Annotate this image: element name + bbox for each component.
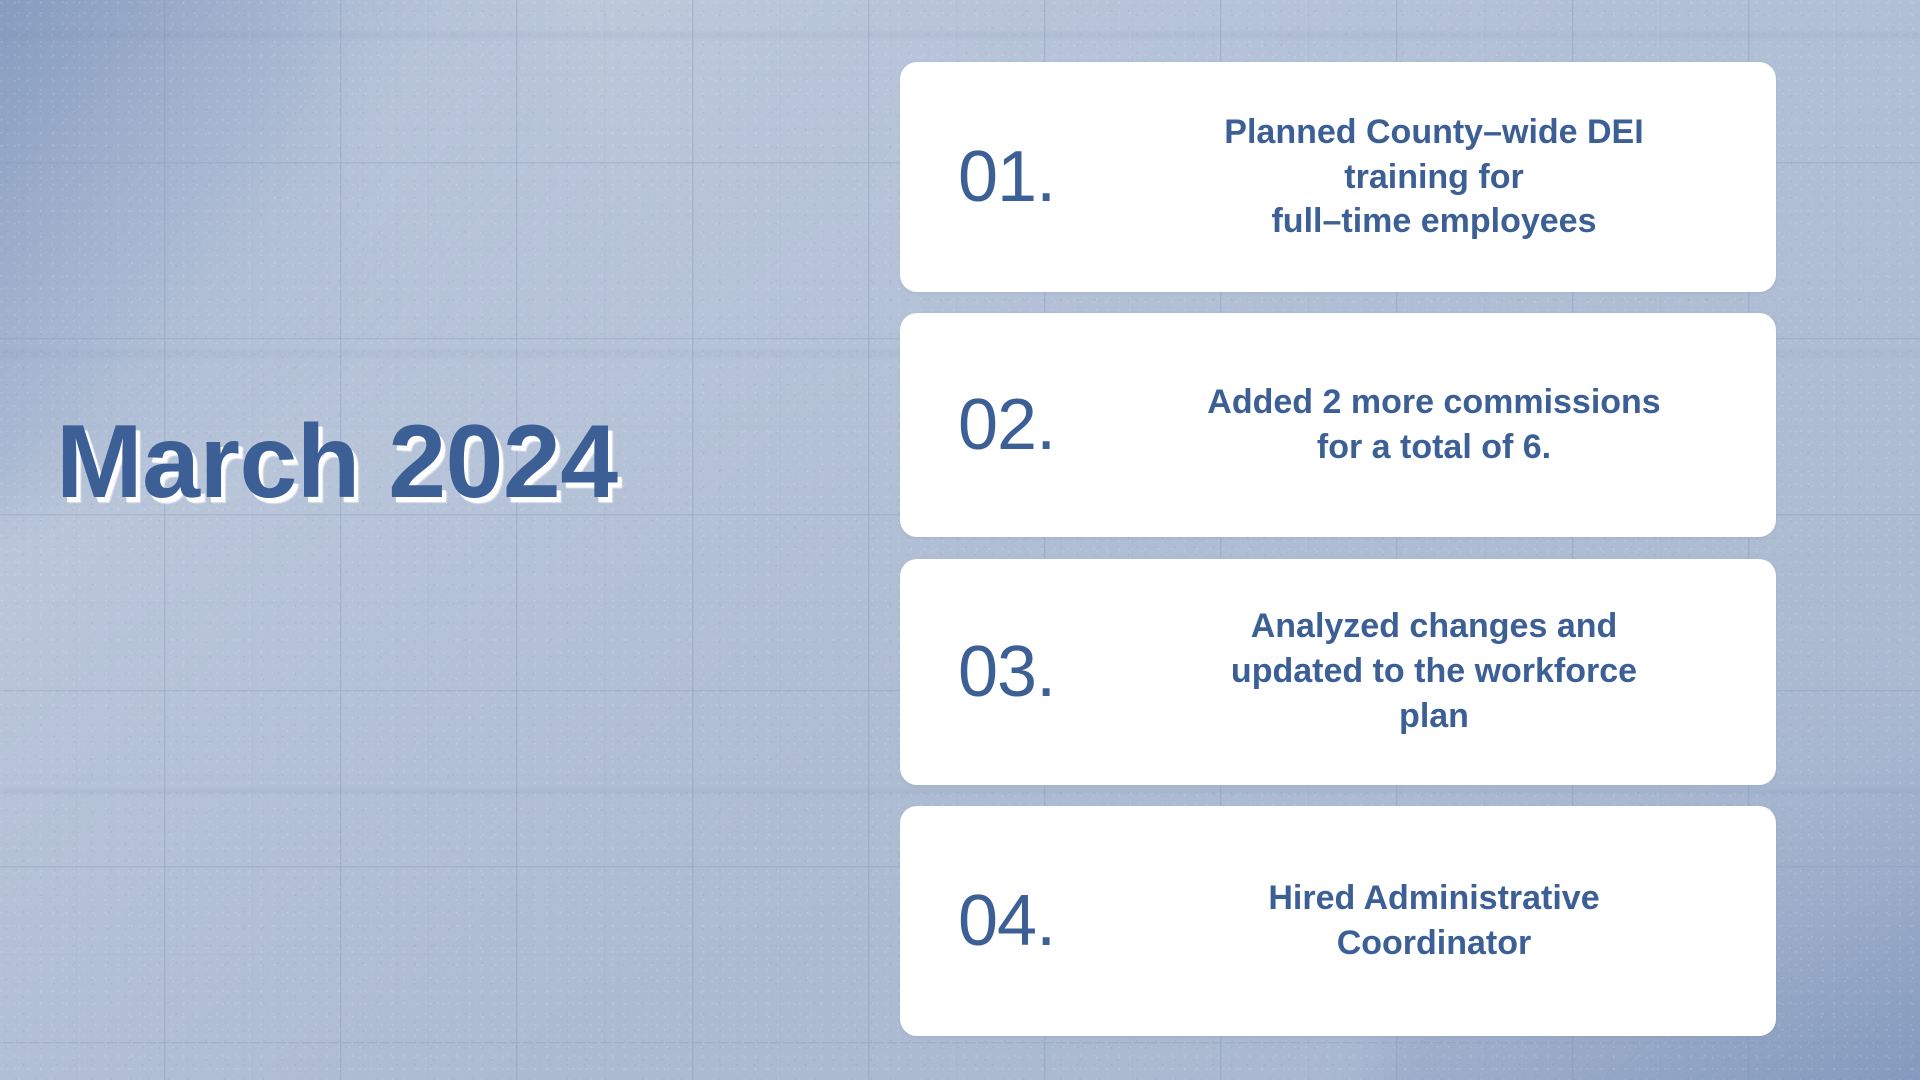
page-title: March 2024 xyxy=(56,408,756,517)
item-text: Analyzed changes and updated to the work… xyxy=(1134,604,1746,739)
item-text: Added 2 more commissions for a total of … xyxy=(1134,380,1746,470)
list-item[interactable]: 02. Added 2 more commissions for a total… xyxy=(900,313,1776,537)
background-smudge-band xyxy=(0,34,1920,37)
item-text-line: updated to the workforce xyxy=(1134,649,1734,694)
item-number: 02. xyxy=(958,389,1134,461)
item-text-line: Added 2 more commissions xyxy=(1134,380,1734,425)
highlights-list: 01. Planned County–wide DEI training for… xyxy=(900,62,1776,1036)
list-item[interactable]: 04. Hired Administrative Coordinator xyxy=(900,806,1776,1036)
item-text-line: Analyzed changes and xyxy=(1134,604,1734,649)
item-text-line: Planned County–wide DEI xyxy=(1134,110,1734,155)
item-number: 01. xyxy=(958,141,1134,213)
item-text-line: plan xyxy=(1134,694,1734,739)
slide-title-block: March 2024 xyxy=(56,408,756,517)
item-number: 04. xyxy=(958,885,1134,957)
item-number: 03. xyxy=(958,636,1134,708)
item-text-line: training for xyxy=(1134,155,1734,200)
list-item[interactable]: 03. Analyzed changes and updated to the … xyxy=(900,559,1776,785)
item-text-line: Coordinator xyxy=(1134,921,1734,966)
item-text: Hired Administrative Coordinator xyxy=(1134,876,1746,966)
list-item[interactable]: 01. Planned County–wide DEI training for… xyxy=(900,62,1776,292)
item-text-line: for a total of 6. xyxy=(1134,425,1734,470)
item-text-line: Hired Administrative xyxy=(1134,876,1734,921)
item-text: Planned County–wide DEI training for ful… xyxy=(1134,110,1746,245)
item-text-line: full–time employees xyxy=(1134,199,1734,244)
slide-canvas: March 2024 01. Planned County–wide DEI t… xyxy=(0,0,1920,1080)
